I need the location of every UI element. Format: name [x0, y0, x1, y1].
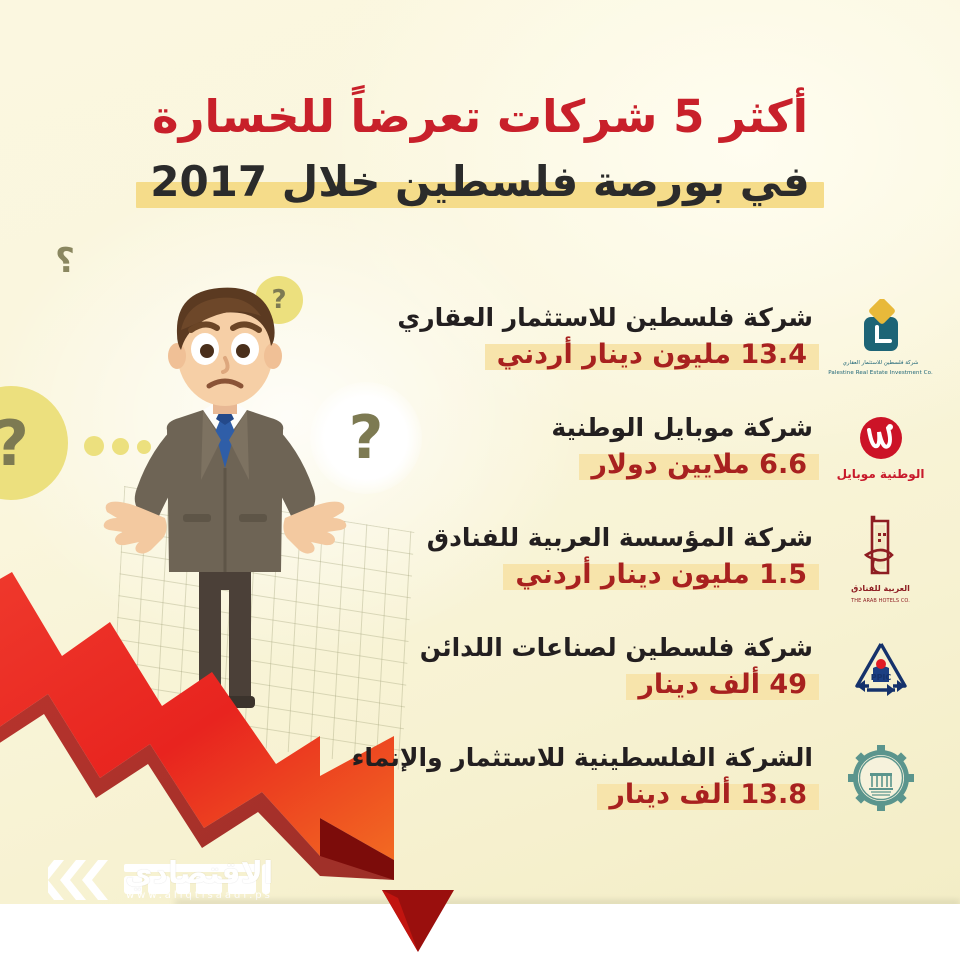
- company-name: شركة فلسطين للاستثمار العقاري: [397, 304, 813, 333]
- logo-caption-ar: شركة فلسطين للاستثمار العقاري: [843, 360, 919, 367]
- company-text-cell: شركة فلسطين لصناعات اللدائن 49 ألف دينار: [0, 634, 813, 701]
- palestine-investment-development-logo: [848, 745, 914, 811]
- company-logo-cell: العربية للفنادق THE ARAB HOTELS CO.: [813, 508, 948, 608]
- list-item[interactable]: العربية للفنادق THE ARAB HOTELS CO. شركة…: [0, 503, 960, 613]
- company-value: 13.4 مليون دينار أردني: [491, 338, 813, 371]
- list-item[interactable]: الوطنية موبايل شركة موبايل الوطنية 6.6 م…: [0, 393, 960, 503]
- infographic-canvas: ؟ ? ? ?: [0, 0, 960, 960]
- list-item[interactable]: الشركة الفلسطينية للاستثمار والإنماء 13.…: [0, 723, 960, 833]
- title-line-2-text: في بورصة فلسطين خلال 2017: [150, 157, 810, 206]
- company-text-cell: الشركة الفلسطينية للاستثمار والإنماء 13.…: [0, 744, 813, 811]
- list-item[interactable]: PPIC شركة فلسطين لصناعات اللدائن 49 ألف …: [0, 613, 960, 723]
- company-name: الشركة الفلسطينية للاستثمار والإنماء: [352, 744, 813, 773]
- page-title: أكثر 5 شركات تعرضاً للخسارة في بورصة فلس…: [0, 92, 960, 210]
- company-name: شركة موبايل الوطنية: [551, 414, 813, 443]
- title-line-2: في بورصة فلسطين خلال 2017: [136, 156, 824, 210]
- company-value-holder: 6.6 ملايين دولار: [585, 449, 813, 481]
- brand-name-ar: الاقتصادي: [125, 856, 273, 891]
- loss-company-list: شركة فلسطين للاستثمار العقاري Palestine …: [0, 283, 960, 833]
- company-value-holder: 13.8 ألف دينار: [603, 779, 813, 811]
- question-bubble-small-top: ؟: [48, 244, 82, 278]
- arab-hotels-logo: [852, 511, 910, 581]
- company-value: 6.6 ملايين دولار: [585, 448, 813, 481]
- company-value-holder: 13.4 مليون دينار أردني: [491, 339, 813, 371]
- company-value-holder: 49 ألف دينار: [632, 669, 813, 701]
- title-line-1: أكثر 5 شركات تعرضاً للخسارة: [0, 92, 960, 142]
- company-text-cell: شركة المؤسسة العربية للفنادق 1.5 مليون د…: [0, 524, 813, 591]
- company-value-holder: 1.5 مليون دينار أردني: [509, 559, 813, 591]
- company-name: شركة فلسطين لصناعات اللدائن: [420, 634, 813, 663]
- company-text-cell: شركة فلسطين للاستثمار العقاري 13.4 مليون…: [0, 304, 813, 371]
- company-value: 49 ألف دينار: [632, 668, 813, 701]
- company-text-cell: شركة موبايل الوطنية 6.6 ملايين دولار: [0, 414, 813, 481]
- logo-caption-en: THE ARAB HOTELS CO.: [851, 598, 910, 605]
- company-value: 13.8 ألف دينار: [603, 778, 813, 811]
- palestine-real-estate-investment-logo: [850, 299, 912, 357]
- logo-caption-en: Palestine Real Estate Investment Co.: [828, 370, 933, 377]
- company-logo-cell: شركة فلسطين للاستثمار العقاري Palestine …: [813, 288, 948, 388]
- ppic-plastic-industries-logo: PPIC: [849, 638, 913, 698]
- logo-caption-ar: الوطنية موبايل: [837, 466, 925, 482]
- logo-caption-ar: العربية للفنادق: [851, 584, 910, 595]
- arrow-tip-overflow: [382, 890, 502, 960]
- company-value: 1.5 مليون دينار أردني: [509, 558, 813, 591]
- list-item[interactable]: شركة فلسطين للاستثمار العقاري Palestine …: [0, 283, 960, 393]
- company-logo-cell: PPIC: [813, 618, 948, 718]
- company-logo-cell: [813, 728, 948, 828]
- question-mark-glyph: ؟: [55, 241, 75, 281]
- company-name: شركة المؤسسة العربية للفنادق: [427, 524, 813, 553]
- company-logo-cell: الوطنية موبايل: [813, 398, 948, 498]
- ppic-label: PPIC: [870, 673, 891, 682]
- wataniya-mobile-logo: [854, 414, 908, 464]
